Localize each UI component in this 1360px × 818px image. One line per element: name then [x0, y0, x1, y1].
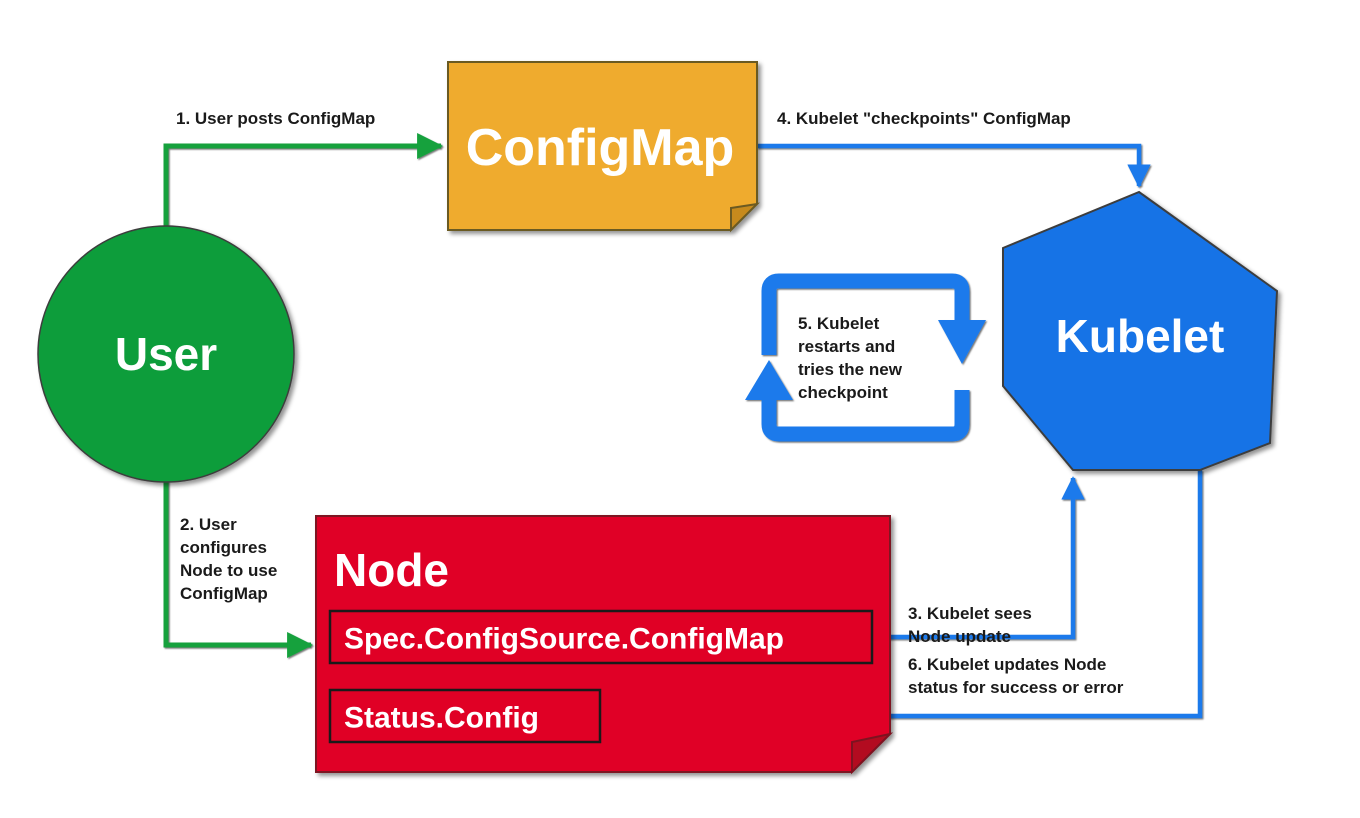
step-3-line-1: Node update	[908, 627, 1011, 646]
node-user[interactable]: User	[38, 226, 294, 482]
configmap-label: ConfigMap	[466, 119, 735, 177]
step-6-line-1: status for success or error	[908, 678, 1124, 697]
status-field-label: Status.Config	[344, 702, 539, 735]
node-title-label: Node	[334, 544, 449, 596]
step-label-2: 2. User configures Node to use ConfigMap	[180, 515, 277, 603]
diagram-canvas: User ConfigMap Node Spec.ConfigSource.Co…	[0, 0, 1360, 818]
step-1-line-0: 1. User posts ConfigMap	[176, 109, 375, 128]
step-2-line-0: 2. User	[180, 515, 237, 534]
node-field-spec-configsource-configmap[interactable]: Spec.ConfigSource.ConfigMap	[330, 611, 872, 663]
spec-field-label: Spec.ConfigSource.ConfigMap	[344, 623, 784, 656]
step-label-1: 1. User posts ConfigMap	[176, 109, 375, 128]
kubelet-configmap-flow-diagram: User ConfigMap Node Spec.ConfigSource.Co…	[0, 0, 1360, 818]
step-2-line-1: configures	[180, 538, 267, 557]
step-2-line-3: ConfigMap	[180, 584, 268, 603]
step-5-line-3: checkpoint	[798, 383, 888, 402]
step-2-line-2: Node to use	[180, 561, 277, 580]
step-5-line-1: restarts and	[798, 337, 895, 356]
connector-5-restart-loop	[745, 281, 986, 434]
node-node[interactable]: Node Spec.ConfigSource.ConfigMap Status.…	[316, 516, 890, 772]
step-5-line-2: tries the new	[798, 360, 903, 379]
configmap-fold-corner	[731, 204, 757, 230]
node-field-status-config[interactable]: Status.Config	[330, 690, 600, 742]
step-label-6: 6. Kubelet updates Node status for succe…	[908, 655, 1124, 697]
node-kubelet[interactable]: Kubelet	[1003, 192, 1277, 470]
node-configmap[interactable]: ConfigMap	[448, 62, 757, 230]
step-4-line-0: 4. Kubelet "checkpoints" ConfigMap	[777, 109, 1071, 128]
connector-1-user-to-configmap	[166, 146, 441, 247]
step-5-line-0: 5. Kubelet	[798, 314, 880, 333]
step-3-line-0: 3. Kubelet sees	[908, 604, 1032, 623]
kubelet-label: Kubelet	[1056, 310, 1225, 362]
step-label-3: 3. Kubelet sees Node update	[908, 604, 1032, 646]
user-label: User	[115, 328, 217, 380]
step-6-line-0: 6. Kubelet updates Node	[908, 655, 1106, 674]
connector-4-configmap-to-kubelet	[757, 146, 1139, 186]
step-label-4: 4. Kubelet "checkpoints" ConfigMap	[777, 109, 1071, 128]
step-label-5: 5. Kubelet restarts and tries the new ch…	[798, 314, 903, 402]
